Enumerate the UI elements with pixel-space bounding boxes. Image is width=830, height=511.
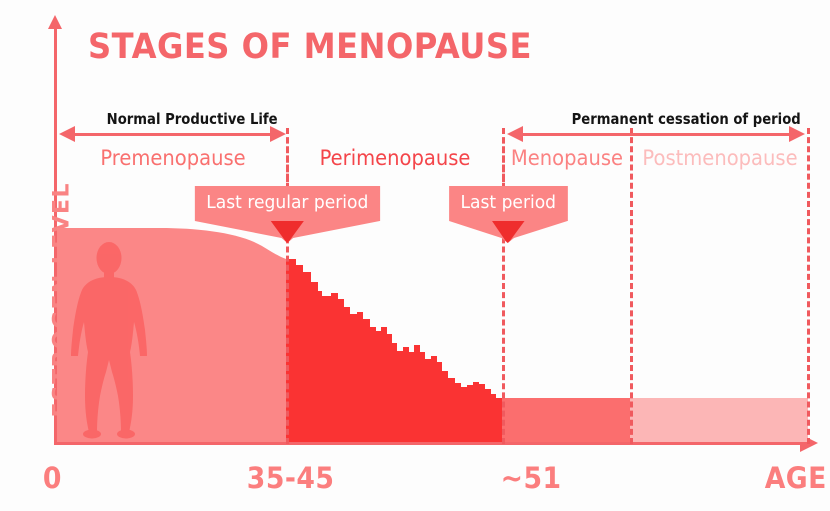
x-axis-title: AGE	[765, 461, 827, 495]
bracket-arrow-right-permanent-cessation	[789, 126, 805, 142]
callout-stem-last-regular-period	[286, 128, 289, 182]
callout-label-last-period: Last period	[461, 192, 557, 213]
callout-label-last-regular-period: Last regular period	[206, 192, 368, 213]
area-postmenopause	[630, 398, 808, 442]
x-tick-label-51: ~51	[501, 461, 562, 495]
callout-notch-last-regular-period	[195, 221, 380, 243]
x-tick-label-0: 0	[43, 461, 62, 495]
callout-last-period: Last period	[446, 186, 571, 221]
bracket-label-permanent-cessation: Permanent cessation of period	[572, 110, 801, 128]
menopause-stages-infographic: STAGES OF MENOPAUSE ESTROGEN LEVEL	[0, 0, 830, 511]
callout-notch-last-period	[449, 221, 567, 243]
estrogen-level-area-chart	[0, 0, 830, 511]
divider-chart-right-edge	[807, 128, 810, 444]
area-perimenopause	[286, 259, 502, 442]
callout-body-last-period: Last period	[449, 186, 567, 221]
bracket-label-normal-productive-life: Normal Productive Life	[107, 110, 278, 128]
bracket-arrow-left-normal-productive-life	[59, 126, 75, 142]
bracket-bar-normal-productive-life	[74, 133, 270, 136]
x-tick-label-35-45: 35-45	[247, 461, 335, 495]
divider-menopause-postmenopause	[630, 128, 633, 444]
bracket-arrow-right-normal-productive-life	[270, 126, 286, 142]
callout-stem-last-period	[502, 128, 505, 182]
stage-label-menopause: Menopause	[508, 146, 625, 170]
stage-label-perimenopause: Perimenopause	[295, 146, 494, 170]
callout-body-last-regular-period: Last regular period	[195, 186, 380, 221]
callout-last-regular-period: Last regular period	[190, 186, 385, 221]
bracket-bar-permanent-cessation	[522, 133, 789, 136]
stage-label-premenopause: Premenopause	[68, 146, 278, 170]
stage-label-postmenopause: Postmenopause	[638, 146, 802, 170]
bracket-arrow-left-permanent-cessation	[507, 126, 523, 142]
area-menopause	[502, 398, 630, 442]
